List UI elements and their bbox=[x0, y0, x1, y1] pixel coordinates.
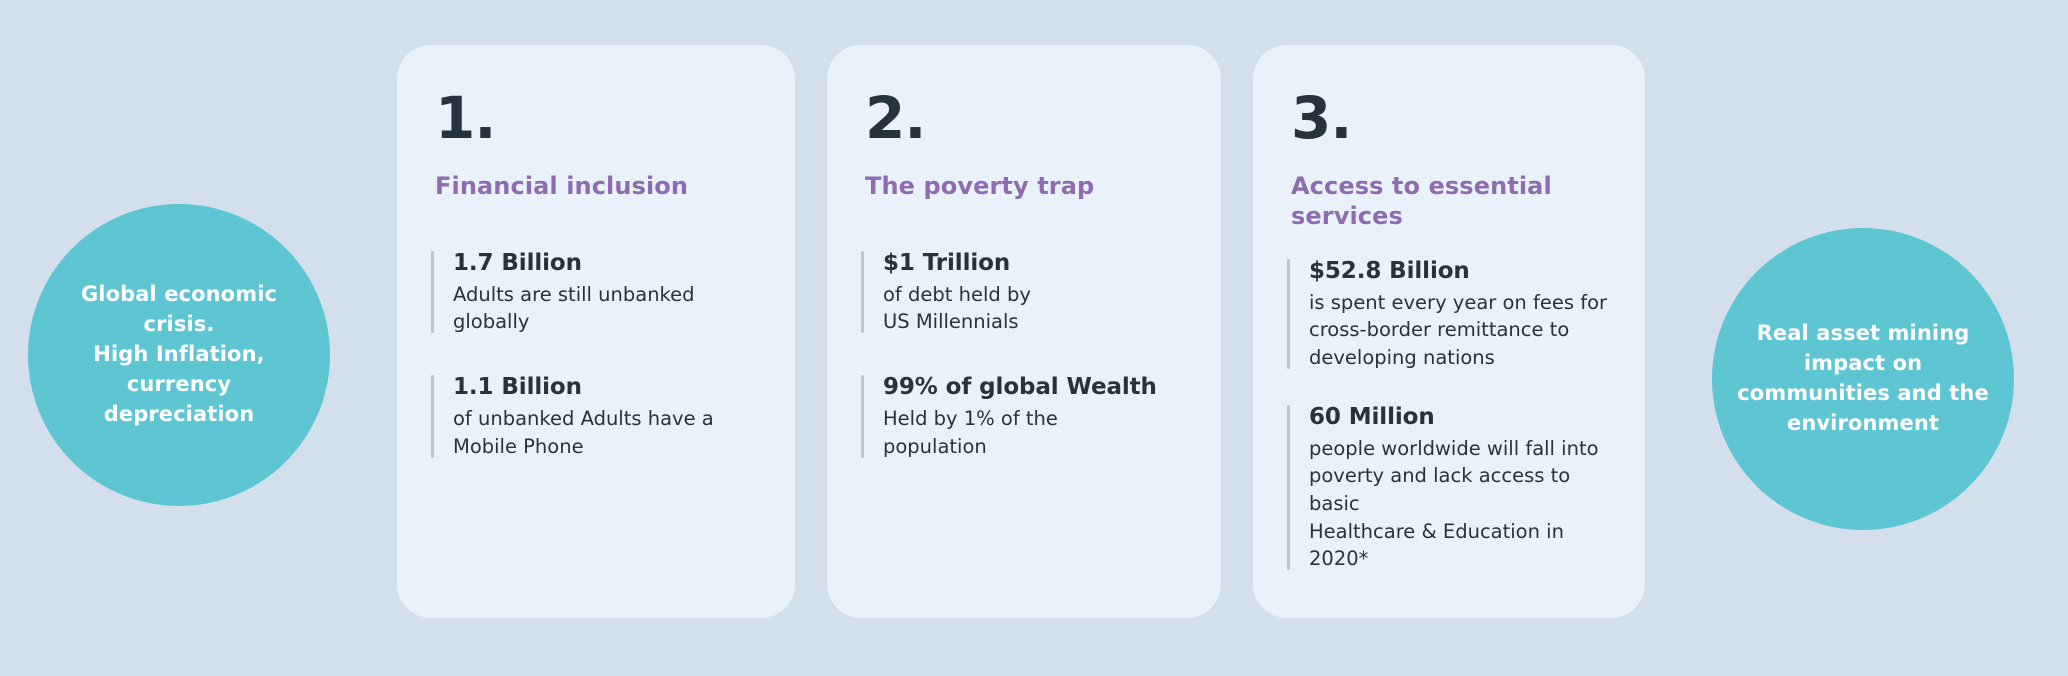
left-circle-label: Global economic crisis. High Inflation, … bbox=[28, 280, 330, 429]
stat-description: Held by 1% of the population bbox=[883, 405, 1187, 460]
card-1-stat-list: 1.7 Billion Adults are still unbanked gl… bbox=[431, 248, 761, 461]
stat-item: 1.7 Billion Adults are still unbanked gl… bbox=[431, 248, 761, 336]
stat-value: 60 Million bbox=[1309, 402, 1611, 433]
accent-bar-icon bbox=[861, 375, 864, 457]
right-context-circle: Real asset mining impact on communities … bbox=[1712, 228, 2014, 530]
card-3-number: 3. bbox=[1291, 89, 1611, 147]
stat-value: 1.1 Billion bbox=[453, 372, 761, 403]
card-3-heading: Access to essential services bbox=[1291, 172, 1611, 232]
stat-value: $1 Trillion bbox=[883, 248, 1187, 279]
stat-item: 1.1 Billion of unbanked Adults have a Mo… bbox=[431, 372, 761, 460]
stat-description: of debt held by US Millennials bbox=[883, 281, 1187, 336]
accent-bar-icon bbox=[431, 251, 434, 333]
card-1-number: 1. bbox=[435, 89, 761, 147]
stat-item: $52.8 Billion is spent every year on fee… bbox=[1287, 256, 1611, 372]
accent-bar-icon bbox=[431, 375, 434, 457]
right-circle-label: Real asset mining impact on communities … bbox=[1712, 319, 2014, 438]
stat-description: people worldwide will fall into poverty … bbox=[1309, 435, 1611, 573]
stat-item: 60 Million people worldwide will fall in… bbox=[1287, 402, 1611, 573]
stat-value: 1.7 Billion bbox=[453, 248, 761, 279]
card-1-heading: Financial inclusion bbox=[435, 172, 761, 202]
card-2-stat-list: $1 Trillion of debt held by US Millennia… bbox=[861, 248, 1187, 461]
card-access-to-essential-services[interactable]: 3. Access to essential services $52.8 Bi… bbox=[1253, 45, 1645, 618]
card-2-heading: The poverty trap bbox=[865, 172, 1187, 202]
accent-bar-icon bbox=[1287, 259, 1290, 369]
card-poverty-trap[interactable]: 2. The poverty trap $1 Trillion of debt … bbox=[827, 45, 1221, 618]
stat-item: $1 Trillion of debt held by US Millennia… bbox=[861, 248, 1187, 336]
stat-description: Adults are still unbanked globally bbox=[453, 281, 761, 336]
card-2-number: 2. bbox=[865, 89, 1187, 147]
stat-description: is spent every year on fees for cross-bo… bbox=[1309, 289, 1611, 372]
card-financial-inclusion[interactable]: 1. Financial inclusion 1.7 Billion Adult… bbox=[397, 45, 795, 618]
infographic-canvas: Global economic crisis. High Inflation, … bbox=[0, 0, 2068, 676]
left-context-circle: Global economic crisis. High Inflation, … bbox=[28, 204, 330, 506]
stat-description: of unbanked Adults have a Mobile Phone bbox=[453, 405, 761, 460]
stat-item: 99% of global Wealth Held by 1% of the p… bbox=[861, 372, 1187, 460]
card-3-stat-list: $52.8 Billion is spent every year on fee… bbox=[1287, 256, 1611, 574]
accent-bar-icon bbox=[1287, 405, 1290, 570]
accent-bar-icon bbox=[861, 251, 864, 333]
stat-value: $52.8 Billion bbox=[1309, 256, 1611, 287]
stat-value: 99% of global Wealth bbox=[883, 372, 1187, 403]
